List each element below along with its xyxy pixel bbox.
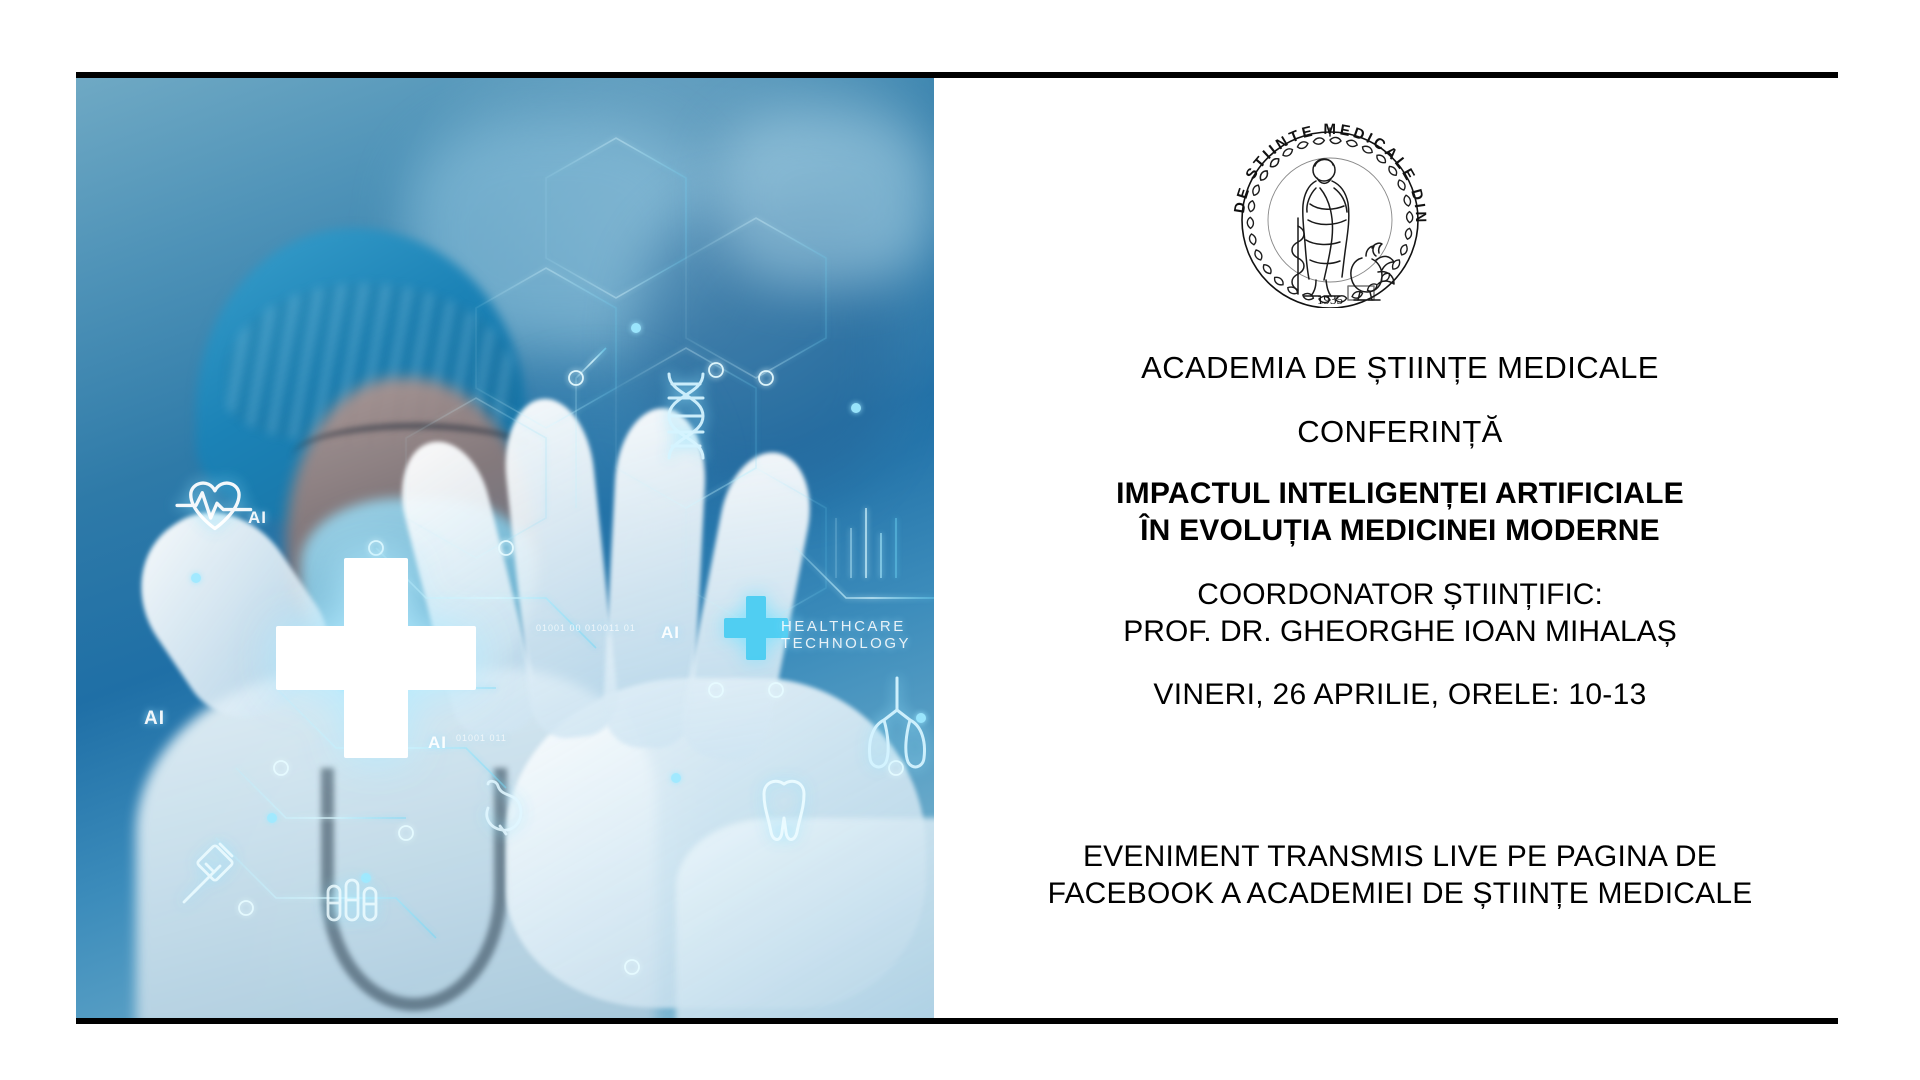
academy-logo: ACADEMIA DE STIINTE MEDICALE DIN ROMANIA [1220, 108, 1440, 308]
event-type: CONFERINȚĂ [960, 414, 1840, 450]
hero-photo: AI AI AI AI HEALTHCARE TECHNOLOGY 01001 … [76, 78, 934, 1018]
medical-cross-icon [276, 558, 476, 758]
spacer [960, 549, 1840, 577]
bottom-divider [76, 1018, 1838, 1024]
academy-name: ACADEMIA DE ȘTIINȚE MEDICALE [960, 350, 1840, 386]
conference-poster: AI AI AI AI HEALTHCARE TECHNOLOGY 01001 … [0, 0, 1920, 1080]
poster-text-block: ACADEMIA DE ȘTIINȚE MEDICALE CONFERINȚĂ … [960, 350, 1840, 713]
circuit-trace-graphic [76, 78, 934, 1018]
seal-year: 1935 [1317, 292, 1343, 307]
livestream-notice-line-2: FACEBOOK A ACADEMIEI DE ȘTIINȚE MEDICALE [960, 875, 1840, 912]
conference-title-line-1: IMPACTUL INTELIGENȚEI ARTIFICIALE [960, 476, 1840, 513]
coordinator-label: COORDONATOR ȘTIINȚIFIC: [960, 577, 1840, 614]
livestream-notice-line-1: EVENIMENT TRANSMIS LIVE PE PAGINA DE [960, 838, 1840, 875]
coordinator-name: PROF. DR. GHEORGHE IOAN MIHALAȘ [960, 614, 1840, 651]
conference-title-line-2: ÎN EVOLUȚIA MEDICINEI MODERNE [960, 513, 1840, 550]
academy-seal-icon: ACADEMIA DE STIINTE MEDICALE DIN ROMANIA [1220, 108, 1440, 308]
livestream-notice: EVENIMENT TRANSMIS LIVE PE PAGINA DE FAC… [960, 838, 1840, 912]
poster-content: ACADEMIA DE STIINTE MEDICALE DIN ROMANIA [960, 78, 1840, 1018]
spacer [960, 450, 1840, 476]
event-datetime: VINERI, 26 APRILIE, ORELE: 10-13 [960, 678, 1840, 713]
spacer [960, 650, 1840, 678]
spacer [960, 386, 1840, 414]
holographic-overlay: AI AI AI AI HEALTHCARE TECHNOLOGY 01001 … [76, 78, 934, 1018]
seal-top-text: ACADEMIA DE STIINTE MEDICALE DIN ROMANIA [1220, 108, 1429, 226]
small-medical-cross-icon [724, 596, 788, 660]
